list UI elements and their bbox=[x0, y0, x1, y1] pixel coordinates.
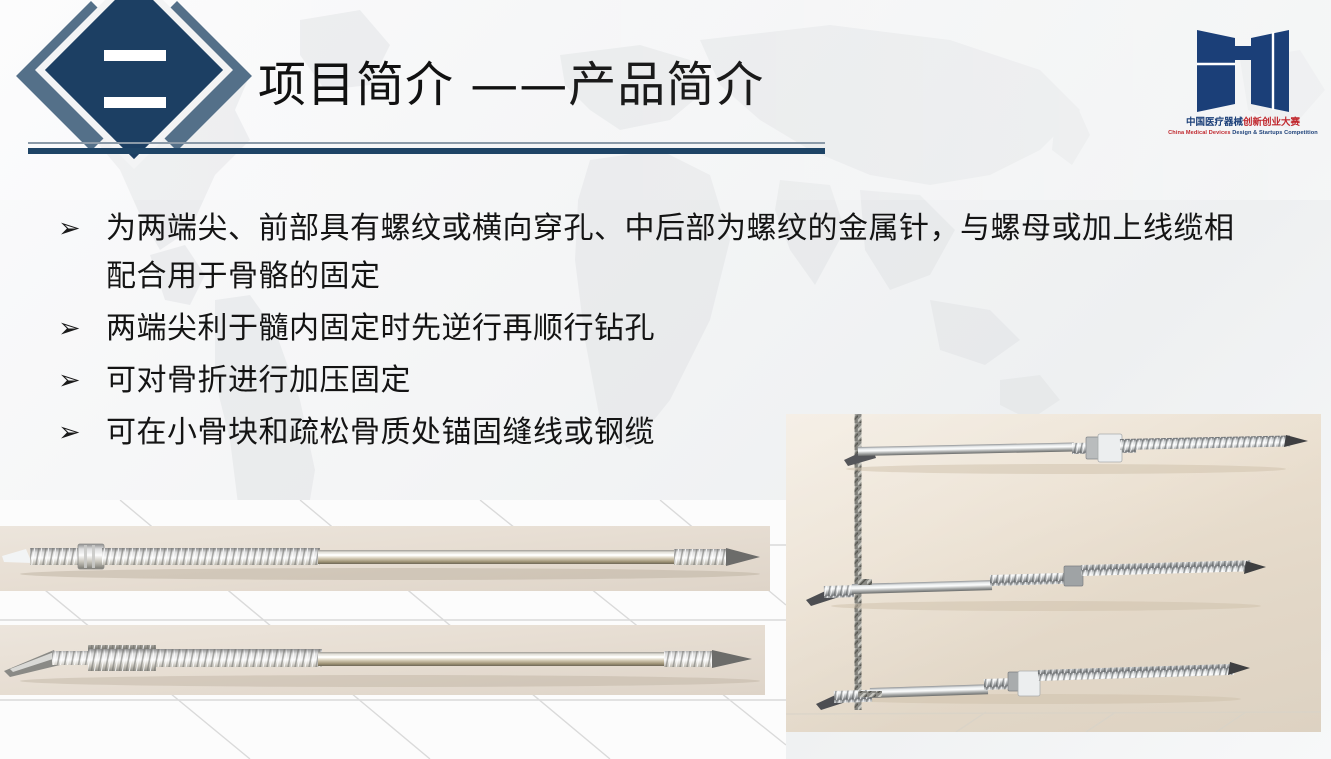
arrow-bullet-icon: ➢ bbox=[58, 409, 106, 457]
page-title-sub: 产品简介 bbox=[568, 57, 764, 113]
competition-name-en-blue: Design & Startups Competition bbox=[1231, 130, 1318, 136]
arrow-bullet-icon: ➢ bbox=[58, 305, 106, 353]
photo-pin-1 bbox=[0, 526, 770, 591]
header-rule-thin bbox=[28, 142, 825, 144]
header-rule-thick bbox=[28, 148, 825, 154]
photo-pins-cable-content bbox=[786, 414, 1321, 732]
page-title-dash: —— bbox=[454, 57, 568, 113]
list-item: ➢ 两端尖利于髓内固定时先逆行再顺行钻孔 bbox=[58, 305, 1238, 353]
photo-pin-2-content bbox=[0, 625, 765, 695]
competition-logo: 中国医疗器械创新创业大赛 China Medical Devices Desig… bbox=[1173, 18, 1313, 163]
page-title: 项目简介 ——产品简介 bbox=[258, 60, 764, 110]
bullet-text: 为两端尖、前部具有螺纹或横向穿孔、中后部为螺纹的金属针，与螺母或加上线缆相配合用… bbox=[106, 205, 1238, 301]
slide-root: 项目简介 ——产品简介 中国医疗器械创新创业大赛 bbox=[0, 0, 1331, 759]
logo-bar-bottom bbox=[104, 97, 166, 108]
photo-pin-1-content bbox=[0, 526, 770, 591]
bullet-text: 两端尖利于髓内固定时先逆行再顺行钻孔 bbox=[106, 305, 1238, 353]
bullet-text: 可对骨折进行加压固定 bbox=[106, 357, 1238, 405]
open-door-icon bbox=[1189, 18, 1297, 114]
photo-pins-cable bbox=[786, 414, 1321, 732]
competition-name-en: China Medical Devices Design & Startups … bbox=[1168, 130, 1318, 136]
competition-name-cn: 中国医疗器械创新创业大赛 bbox=[1186, 118, 1300, 128]
competition-name-cn-black: 中国医疗器械 bbox=[1186, 117, 1243, 128]
page-title-main: 项目简介 bbox=[258, 57, 454, 113]
logo-bar-top bbox=[104, 50, 166, 61]
list-item: ➢ 为两端尖、前部具有螺纹或横向穿孔、中后部为螺纹的金属针，与螺母或加上线缆相配… bbox=[58, 205, 1238, 301]
competition-name-en-red: China Medical Devices bbox=[1168, 130, 1230, 136]
photo-pin-2 bbox=[0, 625, 765, 695]
competition-name-cn-red: 创新创业大赛 bbox=[1243, 117, 1300, 128]
list-item: ➢ 可对骨折进行加压固定 bbox=[58, 357, 1238, 405]
arrow-bullet-icon: ➢ bbox=[58, 357, 106, 405]
arrow-bullet-icon: ➢ bbox=[58, 205, 106, 253]
diamond-logo bbox=[42, 2, 226, 154]
